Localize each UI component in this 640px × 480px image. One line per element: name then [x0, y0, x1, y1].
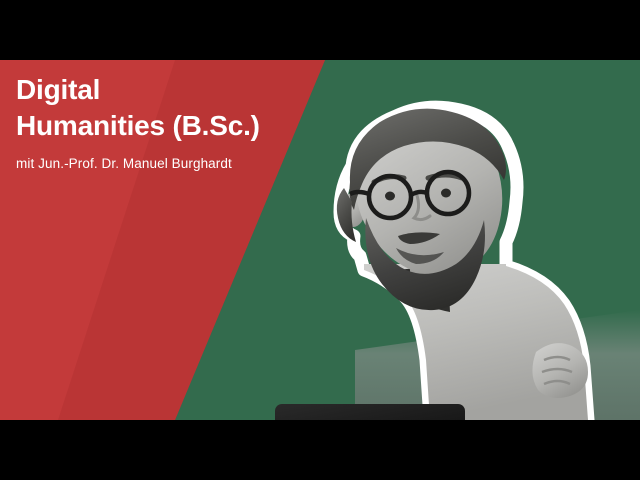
letterbox-bar-top: [0, 0, 640, 60]
title-block: Digital Humanities (B.Sc.) mit Jun.-Prof…: [16, 72, 260, 171]
speaker-eye-right: [441, 189, 451, 198]
laptop-device: [275, 398, 465, 420]
video-content: Digital Humanities (B.Sc.) mit Jun.-Prof…: [0, 60, 640, 420]
speaker-hand: [532, 343, 588, 398]
subtitle: mit Jun.-Prof. Dr. Manuel Burghardt: [16, 156, 260, 171]
speaker-eye-left: [385, 192, 395, 201]
laptop-lid: [275, 404, 465, 420]
page-title: Digital Humanities (B.Sc.): [16, 72, 260, 144]
video-frame: Digital Humanities (B.Sc.) mit Jun.-Prof…: [0, 0, 640, 480]
speaker-cutout: [300, 60, 640, 420]
letterbox-bar-bottom: [0, 420, 640, 480]
title-line-2: Humanities (B.Sc.): [16, 108, 260, 144]
title-line-1: Digital: [16, 72, 260, 108]
